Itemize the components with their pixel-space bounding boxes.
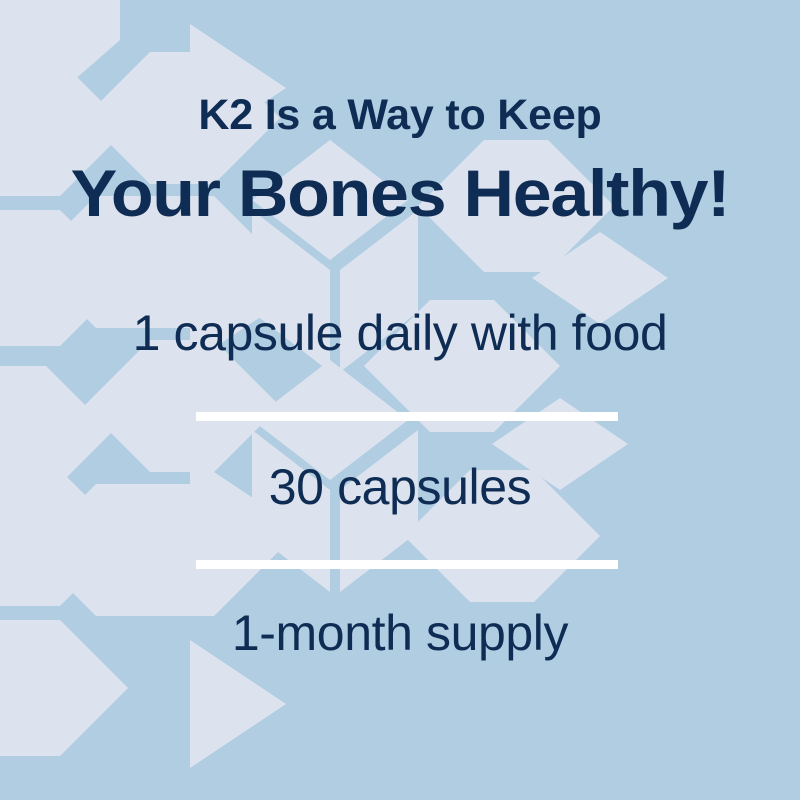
text-stack: K2 Is a Way to Keep Your Bones Healthy! …: [0, 0, 800, 800]
eyebrow-text: K2 Is a Way to Keep: [0, 93, 800, 138]
divider-top: [196, 412, 618, 421]
fact-capsule-count: 30 capsules: [0, 462, 800, 512]
fact-dosage: 1 capsule daily with food: [0, 308, 800, 358]
page-title: Your Bones Healthy!: [0, 160, 800, 226]
fact-supply-duration: 1-month supply: [0, 608, 800, 658]
product-benefit-graphic: K2 Is a Way to Keep Your Bones Healthy! …: [0, 0, 800, 800]
divider-bottom: [196, 560, 618, 569]
